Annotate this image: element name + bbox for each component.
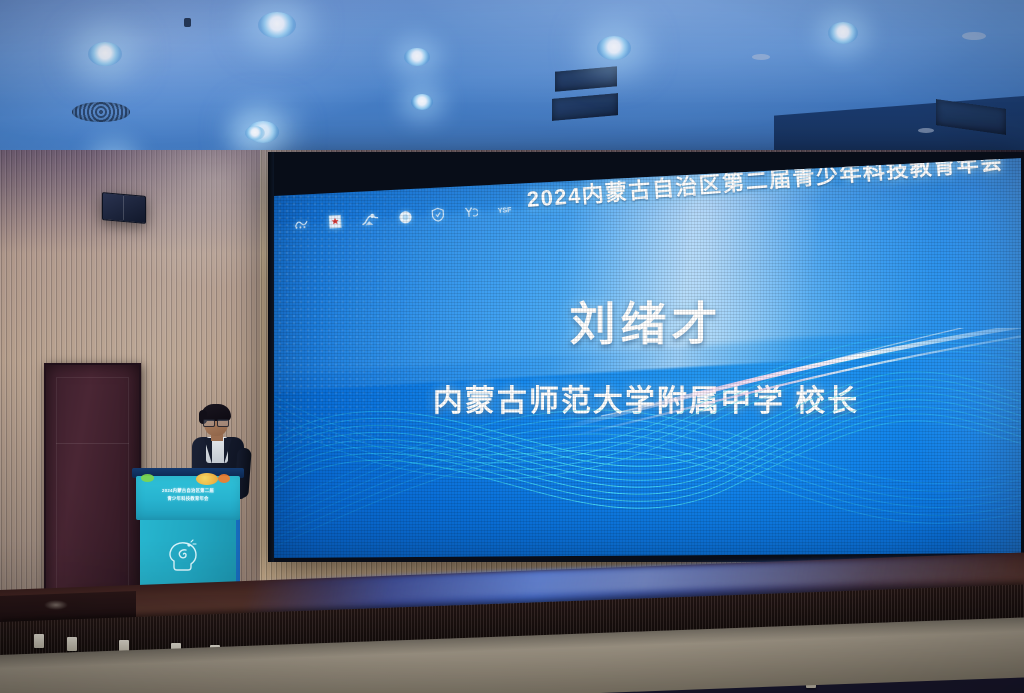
round-air-vent xyxy=(72,102,130,122)
glasses-icon xyxy=(203,419,229,425)
smoke-detector xyxy=(752,54,770,60)
jacket-lapel-right xyxy=(224,438,232,464)
sprinkler-head xyxy=(184,18,191,27)
podium-title-line-1: 2024内蒙古自治区第二届 xyxy=(143,488,233,495)
ceiling-spotlight-9 xyxy=(245,126,265,140)
logo-ysf-icon xyxy=(464,206,479,219)
podium-accent-orange xyxy=(218,474,230,483)
led-screen-left-bezel xyxy=(268,152,274,562)
ceiling-spotlight-4 xyxy=(404,48,430,66)
ceiling-spotlight-6 xyxy=(828,22,858,44)
logo-organizer-1-icon xyxy=(293,217,310,230)
podium-accent-yellow xyxy=(196,473,218,485)
podium-title-line-2: 青少年科技教育年会 xyxy=(143,496,233,503)
ceiling-camera xyxy=(962,32,986,40)
logo-organizer-3-icon xyxy=(361,212,380,226)
podium: 2024内蒙古自治区第二届 青少年科技教育年会 xyxy=(136,468,240,597)
smoke-detector-2 xyxy=(918,128,934,133)
ceiling-spotlight-5 xyxy=(597,36,631,60)
wave-ribbon-graphic xyxy=(271,328,1021,558)
podium-front-sign: 2024内蒙古自治区第二届 青少年科技教育年会 xyxy=(136,476,240,520)
logo-ysf-label: YSF xyxy=(498,207,512,215)
stage-power-outlet-2[interactable] xyxy=(67,637,77,651)
led-screen: 2024内蒙古自治区第二届青少年科技教育年会 xyxy=(271,158,1021,558)
ceiling-spotlight-2 xyxy=(258,12,296,38)
logo-organizer-2-icon xyxy=(329,214,342,228)
logo-organizer-5-icon xyxy=(432,207,445,222)
door-panel xyxy=(56,377,129,589)
stage-power-outlet-1[interactable] xyxy=(34,634,44,648)
ceiling-spotlight-1 xyxy=(88,42,122,66)
door-panel-divider xyxy=(56,443,129,444)
floor-mic-base xyxy=(44,600,68,610)
jacket-lapel-left xyxy=(204,438,212,464)
podium-accent-green xyxy=(141,474,154,482)
led-screen-content: 2024内蒙古自治区第二届青少年科技教育年会 xyxy=(271,158,1021,558)
brain-head-icon xyxy=(164,536,204,576)
wall-mounted-speaker xyxy=(102,192,146,224)
conference-hall-photo: 2024内蒙古自治区第二届青少年科技教育年会 xyxy=(0,0,1024,693)
logo-organizer-4-icon xyxy=(399,210,413,224)
ceiling-spotlight-8 xyxy=(411,94,433,110)
stage-door[interactable] xyxy=(44,363,141,605)
